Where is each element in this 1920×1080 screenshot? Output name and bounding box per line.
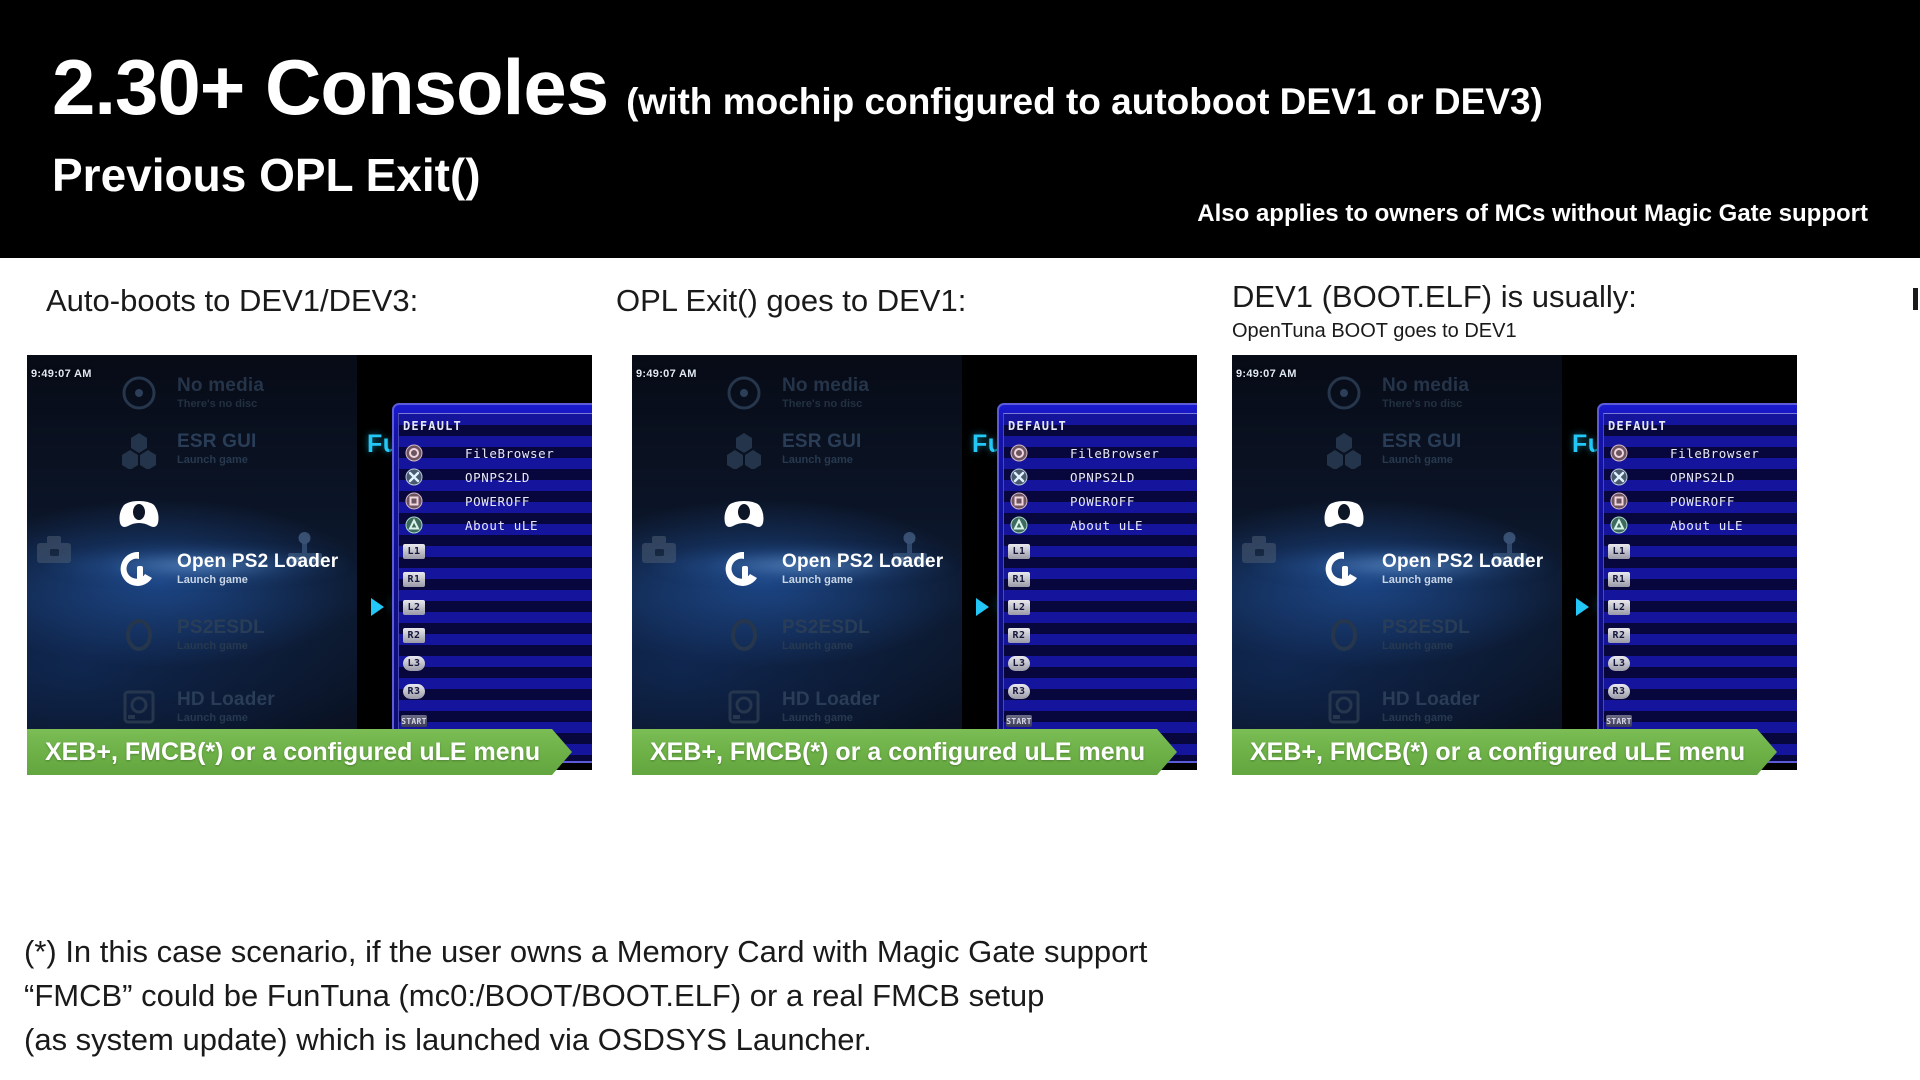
xmb-item-desc: Launch game <box>1382 713 1480 725</box>
r3-label: R3 <box>403 684 425 699</box>
xmb-item-desc: There's no disc <box>782 399 869 411</box>
ule-entry-r3[interactable]: R3 <box>403 681 465 701</box>
ule-entry-label: POWEROFF <box>1070 494 1135 509</box>
hexagons-icon <box>720 427 768 471</box>
start-label: START <box>1006 715 1032 727</box>
xmb-item-title: Open PS2 Loader <box>1382 552 1543 572</box>
gamepad-icon <box>720 493 768 537</box>
column-caption-1: Auto-boots to DEV1/DEV3: <box>46 284 418 318</box>
ule-entry-l2[interactable]: L2 <box>403 597 465 617</box>
ule-entry-about-ule[interactable]: About uLE <box>1608 515 1743 535</box>
disc-icon <box>720 371 768 415</box>
l1-label: L1 <box>403 544 425 559</box>
cross-button-icon <box>1008 468 1030 486</box>
r1-label: R1 <box>403 572 425 587</box>
l1-button-icon: L1 <box>1608 542 1630 560</box>
xmb-item-title: ESR GUI <box>177 432 257 452</box>
ule-entry-opnps2ld[interactable]: OPNPS2LD <box>403 467 530 487</box>
ps2-xmb-background: 9:49:07 AM No media There's no disc <box>27 355 357 770</box>
ule-entry-start[interactable]: START <box>1608 711 1670 731</box>
r3-button-icon: R3 <box>1608 682 1630 700</box>
disc-icon <box>115 371 163 415</box>
xmb-item-title: ESR GUI <box>782 432 862 452</box>
ule-entry-label: About uLE <box>465 518 538 533</box>
r1-button-icon: R1 <box>1008 570 1030 588</box>
r3-button-icon: R3 <box>403 682 425 700</box>
page-title: 2.30+ Consoles <box>52 48 608 126</box>
start-label: START <box>401 715 427 727</box>
caret-right-icon <box>371 598 384 616</box>
ule-entry-label: OPNPS2LD <box>465 470 530 485</box>
start-button-icon: START <box>1608 712 1630 730</box>
xmb-item-hd-loader[interactable]: HD Loader Launch game <box>115 685 275 729</box>
gamepad-icon <box>1320 493 1368 537</box>
ule-entry-r2[interactable]: R2 <box>1008 625 1070 645</box>
ule-entry-l3[interactable]: L3 <box>403 653 465 673</box>
l3-button-icon: L3 <box>1608 654 1630 672</box>
ule-menu-header: DEFAULT <box>403 419 462 433</box>
xmb-item-title: HD Loader <box>1382 690 1480 710</box>
ule-entry-poweroff[interactable]: POWEROFF <box>403 491 530 511</box>
l3-label: L3 <box>403 656 425 671</box>
ule-entry-start[interactable]: START <box>403 711 465 731</box>
r1-label: R1 <box>1008 572 1030 587</box>
l2-label: L2 <box>1008 600 1030 615</box>
r2-button-icon: R2 <box>403 626 425 644</box>
ule-entry-label: About uLE <box>1670 518 1743 533</box>
ule-entry-l2[interactable]: L2 <box>1008 597 1070 617</box>
header-band: 2.30+ Consoles (with mochip configured t… <box>0 0 1920 258</box>
xmb-clock: 9:49:07 AM <box>1236 368 1297 380</box>
xmb-item-hd-loader[interactable]: HD LoaderLaunch game <box>1320 685 1480 729</box>
l1-label: L1 <box>1008 544 1030 559</box>
xmb-item-title: PS2ESDL <box>782 618 870 638</box>
ring-icon <box>115 613 163 657</box>
xmb-item-open-ps2-loader[interactable]: Open PS2 Loader Launch game <box>115 547 338 591</box>
footnote: (*) In this case scenario, if the user o… <box>24 930 1147 1062</box>
xmb-item-hd-loader[interactable]: HD LoaderLaunch game <box>720 685 880 729</box>
ring-icon <box>1320 613 1368 657</box>
ule-entry-r1[interactable]: R1 <box>403 569 465 589</box>
circle-button-icon <box>403 444 425 462</box>
ule-entry-label: About uLE <box>1070 518 1143 533</box>
l1-button-icon: L1 <box>1008 542 1030 560</box>
ule-menu-header: DEFAULT <box>1008 419 1067 433</box>
xmb-item-desc: Launch game <box>1382 641 1470 653</box>
l2-label: L2 <box>403 600 425 615</box>
xmb-item-desc: Launch game <box>782 713 880 725</box>
triangle-button-icon <box>1608 516 1630 534</box>
caret-right-icon <box>1576 598 1589 616</box>
caret-right-icon <box>976 598 989 616</box>
triangle-button-icon <box>403 516 425 534</box>
ule-entry-start[interactable]: START <box>1008 711 1070 731</box>
xmb-item-gamepad[interactable] <box>1320 493 1368 537</box>
xmb-item-open-ps2-loader[interactable]: Open PS2 LoaderLaunch game <box>1320 547 1543 591</box>
xmb-item-desc: Launch game <box>1382 575 1543 587</box>
ps2-xmb-background: 9:49:07 AM No mediaThere's no disc ESR G… <box>632 355 962 770</box>
l2-label: L2 <box>1608 600 1630 615</box>
l3-button-icon: L3 <box>403 654 425 672</box>
xmb-clock: 9:49:07 AM <box>31 368 92 380</box>
opl-icon <box>1320 547 1368 591</box>
page-subtitle: Previous OPL Exit() <box>52 152 481 198</box>
xmb-item-title: PS2ESDL <box>1382 618 1470 638</box>
l3-label: L3 <box>1008 656 1030 671</box>
ule-entry-label: OPNPS2LD <box>1670 470 1735 485</box>
l2-button-icon: L2 <box>1008 598 1030 616</box>
r3-button-icon: R3 <box>1008 682 1030 700</box>
ule-menu-window: DEFAULT FileBrowser OPNPS2LD POWEROFF Ab… <box>997 403 1197 763</box>
banner-label: XEB+, FMCB(*) or a configured uLE menu <box>632 738 1145 767</box>
ule-entry-l3[interactable]: L3 <box>1608 653 1670 673</box>
ule-entry-poweroff[interactable]: POWEROFF <box>1608 491 1735 511</box>
ule-entry-r2[interactable]: R2 <box>403 625 465 645</box>
ule-entry-opnps2ld[interactable]: OPNPS2LD <box>1008 467 1135 487</box>
xmb-item-gamepad[interactable] <box>115 493 163 537</box>
xmb-item-title: No media <box>1382 376 1469 396</box>
cross-button-icon <box>403 468 425 486</box>
l2-button-icon: L2 <box>403 598 425 616</box>
xmb-item-esr-gui[interactable]: ESR GUI Launch game <box>115 427 257 471</box>
r3-label: R3 <box>1608 684 1630 699</box>
gamepad-icon <box>115 493 163 537</box>
ule-entry-r2[interactable]: R2 <box>1608 625 1670 645</box>
screenshot-panel-3: 9:49:07 AM No mediaThere's no disc ESR G… <box>1232 355 1797 770</box>
header-note: Also applies to owners of MCs without Ma… <box>1197 200 1868 228</box>
r1-button-icon: R1 <box>1608 570 1630 588</box>
screenshot-panel-1: 9:49:07 AM No media There's no disc <box>27 355 592 770</box>
page-title-qualifier: (with mochip configured to autoboot DEV1… <box>626 83 1543 120</box>
circle-button-icon <box>1008 444 1030 462</box>
xmb-item-title: No media <box>782 376 869 396</box>
xmb-item-desc: Launch game <box>177 713 275 725</box>
ule-entry-label: POWEROFF <box>465 494 530 509</box>
ule-entry-about-ule[interactable]: About uLE <box>403 515 538 535</box>
r2-button-icon: R2 <box>1008 626 1030 644</box>
ule-entry-label: FileBrowser <box>1670 446 1759 461</box>
start-button-icon: START <box>1008 712 1030 730</box>
start-button-icon: START <box>403 712 425 730</box>
xmb-item-title: PS2ESDL <box>177 618 265 638</box>
ule-menu-window: DEFAULT FileBrowser OPNPS2LD POWEROFF <box>392 403 592 763</box>
ule-entry-r3[interactable]: R3 <box>1008 681 1070 701</box>
column-subcaption-3: OpenTuna BOOT goes to DEV1 <box>1232 320 1517 342</box>
start-label: START <box>1606 715 1632 727</box>
l3-label: L3 <box>1608 656 1630 671</box>
disc-icon <box>1320 371 1368 415</box>
xmb-item-esr-gui[interactable]: ESR GUILaunch game <box>1320 427 1462 471</box>
banner-2: XEB+, FMCB(*) or a configured uLE menu <box>632 729 1177 775</box>
xmb-clock: 9:49:07 AM <box>636 368 697 380</box>
ule-entry-r1[interactable]: R1 <box>1608 569 1670 589</box>
r2-label: R2 <box>403 628 425 643</box>
xmb-item-no-media[interactable]: No mediaThere's no disc <box>1320 371 1469 415</box>
xmb-item-desc: Launch game <box>782 455 862 467</box>
triangle-button-icon <box>1008 516 1030 534</box>
r3-label: R3 <box>1008 684 1030 699</box>
ule-menu-header: DEFAULT <box>1608 419 1667 433</box>
ule-entry-label: FileBrowser <box>465 446 554 461</box>
xmb-item-desc: There's no disc <box>1382 399 1469 411</box>
slide-title-row: 2.30+ Consoles (with mochip configured t… <box>52 48 1543 126</box>
ule-entry-filebrowser[interactable]: FileBrowser <box>1008 443 1159 463</box>
column-caption-3: DEV1 (BOOT.ELF) is usually: <box>1232 280 1637 314</box>
ule-entry-opnps2ld[interactable]: OPNPS2LD <box>1608 467 1735 487</box>
opl-icon <box>720 547 768 591</box>
r2-label: R2 <box>1008 628 1030 643</box>
square-button-icon <box>403 492 425 510</box>
xmb-item-esr-gui[interactable]: ESR GUILaunch game <box>720 427 862 471</box>
harddisk-icon <box>720 685 768 729</box>
l1-label: L1 <box>1608 544 1630 559</box>
xmb-item-title: HD Loader <box>177 690 275 710</box>
r1-button-icon: R1 <box>403 570 425 588</box>
harddisk-icon <box>1320 685 1368 729</box>
square-button-icon <box>1008 492 1030 510</box>
xmb-item-no-media[interactable]: No media There's no disc <box>115 371 264 415</box>
xmb-item-desc: Launch game <box>177 455 257 467</box>
r1-label: R1 <box>1608 572 1630 587</box>
ule-menu-window: DEFAULT FileBrowser OPNPS2LD POWEROFF Ab… <box>1597 403 1797 763</box>
ps2-xmb-background: 9:49:07 AM No mediaThere's no disc ESR G… <box>1232 355 1562 770</box>
xmb-item-title: Open PS2 Loader <box>177 552 338 572</box>
xmb-item-ps2esdl[interactable]: PS2ESDLLaunch game <box>1320 613 1470 657</box>
ule-entry-r1[interactable]: R1 <box>1008 569 1070 589</box>
xmb-item-open-ps2-loader[interactable]: Open PS2 LoaderLaunch game <box>720 547 943 591</box>
ule-entry-l1[interactable]: L1 <box>1008 541 1070 561</box>
xmb-item-no-media[interactable]: No mediaThere's no disc <box>720 371 869 415</box>
square-button-icon <box>1608 492 1630 510</box>
xmb-item-desc: Launch game <box>782 641 870 653</box>
ring-icon <box>720 613 768 657</box>
xmb-item-title: ESR GUI <box>1382 432 1462 452</box>
ule-entry-l3[interactable]: L3 <box>1008 653 1070 673</box>
xmb-item-desc: Launch game <box>177 641 265 653</box>
banner-label: XEB+, FMCB(*) or a configured uLE menu <box>27 738 540 767</box>
opl-icon <box>115 547 163 591</box>
cross-button-icon <box>1608 468 1630 486</box>
l1-button-icon: L1 <box>403 542 425 560</box>
banner-1: XEB+, FMCB(*) or a configured uLE menu <box>27 729 572 775</box>
ule-entry-label: FileBrowser <box>1070 446 1159 461</box>
xmb-item-desc: Launch game <box>1382 455 1462 467</box>
ule-entry-l1[interactable]: L1 <box>1608 541 1670 561</box>
l2-button-icon: L2 <box>1608 598 1630 616</box>
ule-entry-filebrowser[interactable]: FileBrowser <box>403 443 554 463</box>
hexagons-icon <box>1320 427 1368 471</box>
ule-entry-l2[interactable]: L2 <box>1608 597 1670 617</box>
column-caption-2: OPL Exit() goes to DEV1: <box>616 284 966 318</box>
r2-button-icon: R2 <box>1608 626 1630 644</box>
banner-label: XEB+, FMCB(*) or a configured uLE menu <box>1232 738 1745 767</box>
xmb-item-ps2esdl[interactable]: PS2ESDL Launch game <box>115 613 265 657</box>
xmb-item-ps2esdl[interactable]: PS2ESDLLaunch game <box>720 613 870 657</box>
ule-entry-r3[interactable]: R3 <box>1608 681 1670 701</box>
circle-button-icon <box>1608 444 1630 462</box>
ule-entry-poweroff[interactable]: POWEROFF <box>1008 491 1135 511</box>
slide-root: 2.30+ Consoles (with mochip configured t… <box>0 0 1920 1080</box>
right-edge-tick <box>1913 288 1918 310</box>
toolbox-icon <box>33 531 75 572</box>
banner-3: XEB+, FMCB(*) or a configured uLE menu <box>1232 729 1777 775</box>
l3-button-icon: L3 <box>1008 654 1030 672</box>
r2-label: R2 <box>1608 628 1630 643</box>
xmb-item-desc: Launch game <box>782 575 943 587</box>
ule-entry-label: POWEROFF <box>1670 494 1735 509</box>
ule-entry-filebrowser[interactable]: FileBrowser <box>1608 443 1759 463</box>
xmb-item-title: No media <box>177 376 264 396</box>
xmb-item-desc: There's no disc <box>177 399 264 411</box>
harddisk-icon <box>115 685 163 729</box>
xmb-item-title: HD Loader <box>782 690 880 710</box>
ule-entry-label: OPNPS2LD <box>1070 470 1135 485</box>
ule-entry-l1[interactable]: L1 <box>403 541 465 561</box>
xmb-item-title: Open PS2 Loader <box>782 552 943 572</box>
toolbox-icon <box>638 531 680 572</box>
xmb-item-gamepad[interactable] <box>720 493 768 537</box>
screenshot-panel-2: 9:49:07 AM No mediaThere's no disc ESR G… <box>632 355 1197 770</box>
hexagons-icon <box>115 427 163 471</box>
xmb-item-desc: Launch game <box>177 575 338 587</box>
toolbox-icon <box>1238 531 1280 572</box>
ule-entry-about-ule[interactable]: About uLE <box>1008 515 1143 535</box>
